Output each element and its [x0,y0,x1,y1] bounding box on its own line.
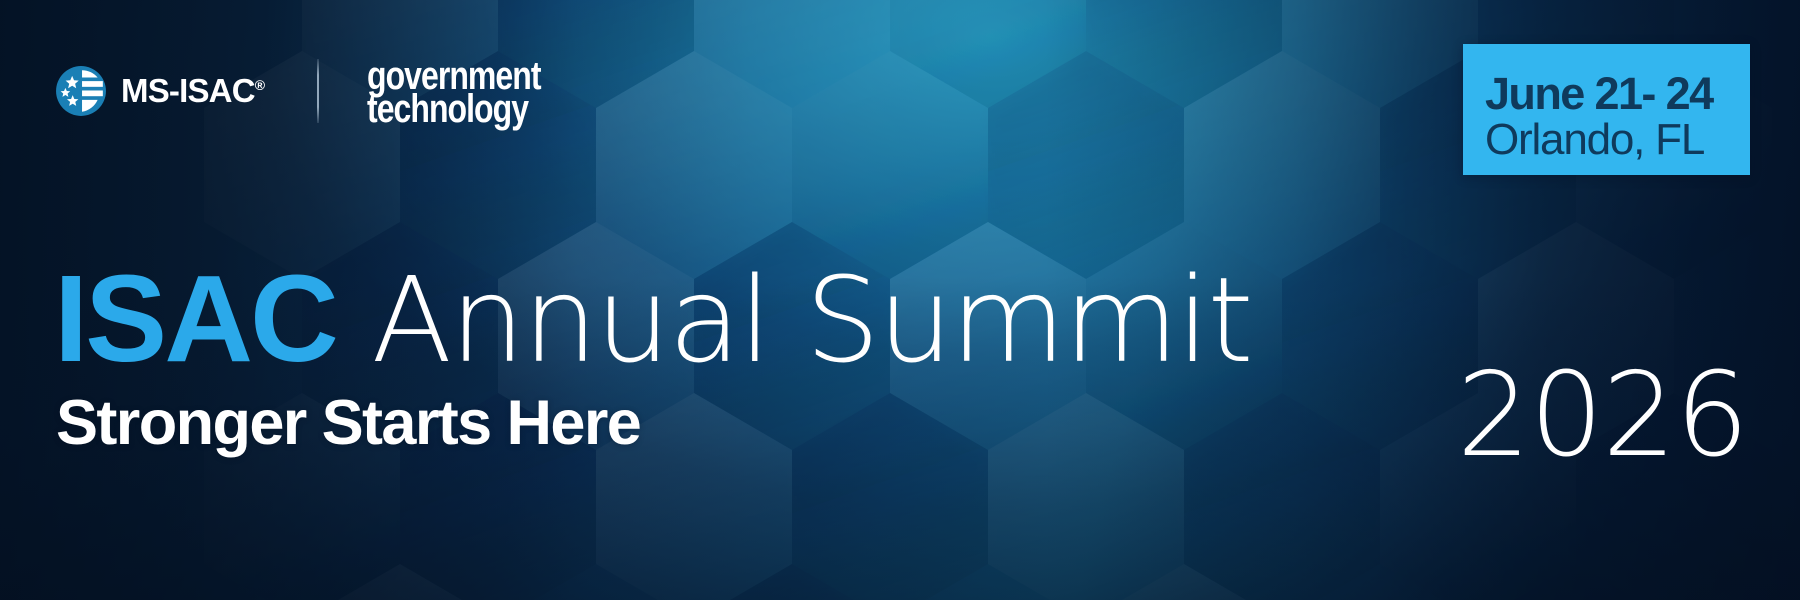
date-location-badge[interactable]: June 21- 24 Orlando, FL [1463,44,1750,175]
event-banner: MS-ISAC® government technology June 21- … [0,0,1800,600]
govtech-line-2: technology [367,93,541,126]
ms-isac-wordmark-text: MS-ISAC [121,72,255,109]
ms-isac-wordmark: MS-ISAC® [121,74,265,107]
event-tagline: Stronger Starts Here [56,392,640,455]
event-location: Orlando, FL [1485,117,1728,164]
logo-row: MS-ISAC® government technology [55,58,584,124]
title-rest: Annual Summit [336,251,1252,389]
government-technology-logo[interactable]: government technology [367,60,541,126]
registered-trademark-symbol: ® [255,77,265,93]
event-title: ISAC Annual Summit [54,258,1252,381]
event-dates: June 21- 24 [1485,71,1728,117]
logo-divider [317,59,319,123]
ms-isac-logo[interactable]: MS-ISAC® [55,65,265,117]
event-year: 2026 [1457,358,1748,474]
ms-isac-flag-circle-icon [55,65,107,117]
title-accent-word: ISAC [54,251,336,388]
